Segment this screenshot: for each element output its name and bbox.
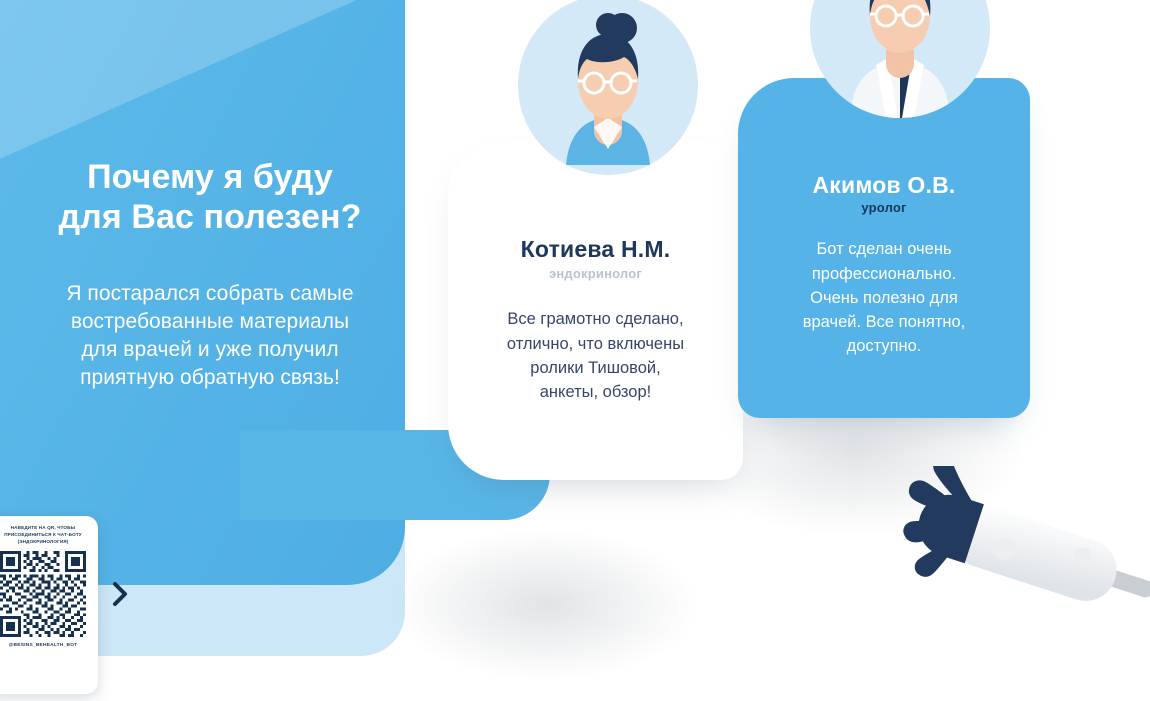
female-doctor-avatar <box>518 0 698 175</box>
chevron-right-icon[interactable] <box>110 580 130 608</box>
slide-canvas: Почему я буду для Вас полезен? Я постара… <box>0 0 1150 701</box>
qr-promo-card[interactable]: НАВЕДИТЕ НА QR, ЧТОБЫ ПРИСОЕДИНИТЬСЯ К Ч… <box>0 516 98 694</box>
hero-text-block: Почему я буду для Вас полезен? Я постара… <box>0 158 420 392</box>
testimonial-card-white: Котиева Н.М. эндокринолог Все грамотно с… <box>448 140 743 480</box>
qr-caption: НАВЕДИТЕ НА QR, ЧТОБЫ ПРИСОЕДИНИТЬСЯ К Ч… <box>0 525 92 546</box>
testimonial-quote: Бот сделан очень профессионально. Очень … <box>762 237 1006 357</box>
stethoscope-illustration <box>840 466 1150 636</box>
testimonial-quote: Все грамотно сделано, отлично, что включ… <box>474 307 717 403</box>
testimonial-name: Акимов О.В. <box>762 172 1006 198</box>
testimonial-role: эндокринолог <box>474 266 717 281</box>
testimonial-role: уролог <box>762 200 1006 215</box>
hero-subtitle: Я постарался собрать самые востребованны… <box>0 280 420 393</box>
testimonial-name: Котиева Н.М. <box>474 236 717 262</box>
qr-bot-handle: @BESINS_BEHEALTH_BOT <box>0 643 92 648</box>
testimonial-card-blue: Акимов О.В. уролог Бот сделан очень проф… <box>738 78 1030 418</box>
qr-code <box>0 551 86 637</box>
page-title: Почему я буду для Вас полезен? <box>0 158 420 238</box>
